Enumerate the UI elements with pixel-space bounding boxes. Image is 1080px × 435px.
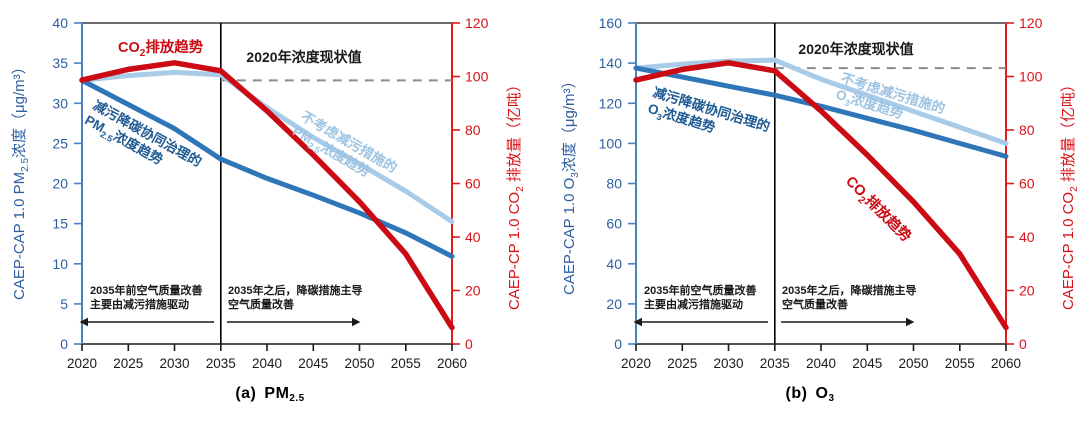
panel-caption-name: PM (264, 385, 289, 402)
y-right-tick-label: 100 (1019, 69, 1043, 85)
left-tick-label-group: 0 20 40 60 80 100 120 140 160 (599, 15, 623, 352)
annotation-dark-blue-label: 减污降碳协同治理的 O3浓度趋势 (645, 84, 772, 154)
y-right-tick-label: 20 (1019, 283, 1035, 299)
x-tick-label-group: 2020 2025 2030 2035 2040 2045 2050 2055 … (621, 356, 1021, 371)
x-tick-label: 2050 (344, 356, 374, 371)
y-left-tick-label: 60 (606, 216, 622, 232)
y-left-tick-label: 30 (52, 95, 68, 111)
y-left-tick-label: 40 (52, 15, 68, 31)
x-tick-label: 2030 (159, 356, 189, 371)
x-axis-ticks (82, 344, 452, 351)
y-left-tick-label: 25 (52, 135, 68, 151)
y-right-tick-label: 120 (465, 15, 489, 31)
annotation-co2-label: CO2排放趋势 (840, 172, 916, 248)
y-right-tick-label: 60 (1019, 176, 1035, 192)
y-left-tick-label: 100 (599, 135, 623, 151)
x-tick-label: 2060 (437, 356, 467, 371)
y-left-axis-title: CAEP-CAP 1.0 PM2.5浓度（μg/m³） (11, 59, 31, 300)
y-left-tick-label: 0 (614, 336, 622, 352)
annotation-co2-label: CO2排放趋势 (118, 38, 204, 59)
panel-caption-index: (a) (235, 385, 256, 402)
panel-caption-name: O (815, 385, 828, 402)
panel-caption-pm25: (a)PM2.5 (0, 385, 540, 404)
y-right-tick-label: 80 (465, 122, 481, 138)
right-axis-ticks (452, 23, 460, 344)
panel-caption-sub: 2.5 (289, 393, 304, 404)
y-left-tick-label: 80 (606, 176, 622, 192)
note-right-line2: 空气质量改善 (782, 297, 848, 311)
plot-svg-pm25: 2020 2025 2030 2035 2040 2045 2050 2055 … (0, 0, 540, 435)
chart-panel-o3: 2020 2025 2030 2035 2040 2045 2050 2055 … (540, 0, 1080, 435)
left-axis-ticks (74, 23, 82, 344)
panel-caption-sub: 3 (828, 393, 834, 404)
x-tick-label: 2040 (252, 356, 282, 371)
y-right-tick-label: 60 (465, 176, 481, 192)
x-tick-label-group: 2020 2025 2030 2035 2040 2045 2050 2055 … (67, 356, 467, 371)
chart-panel-pm25: 2020 2025 2030 2035 2040 2045 2050 2055 … (0, 0, 540, 435)
annotation-baseline-2020-label: 2020年浓度现状值 (798, 41, 913, 57)
y-left-tick-label: 140 (599, 55, 623, 71)
y-right-tick-label: 80 (1019, 122, 1035, 138)
y-right-tick-label: 40 (1019, 229, 1035, 245)
x-tick-label: 2055 (391, 356, 421, 371)
note-left-line1: 2035年前空气质量改善 (644, 283, 756, 297)
right-tick-label-group: 0 20 40 60 80 100 120 (465, 15, 489, 352)
y-right-axis-title: CAEP-CP 1.0 CO2 排放量（亿吨） (1060, 77, 1080, 310)
y-right-tick-label: 20 (465, 283, 481, 299)
x-tick-label: 2060 (991, 356, 1021, 371)
left-tick-label-group: 0 5 10 15 20 25 30 35 40 (52, 15, 68, 352)
y-left-tick-label: 40 (606, 256, 622, 272)
x-tick-label: 2025 (667, 356, 697, 371)
y-left-tick-label: 35 (52, 55, 68, 71)
y-left-tick-label: 20 (606, 296, 622, 312)
right-tick-label-group: 0 20 40 60 80 100 120 (1019, 15, 1043, 352)
y-right-tick-label: 0 (1019, 336, 1027, 352)
plot-svg-o3: 2020 2025 2030 2035 2040 2045 2050 2055 … (540, 0, 1080, 435)
x-tick-label: 2035 (760, 356, 790, 371)
annotation-baseline-2020-label: 2020年浓度现状值 (246, 49, 361, 65)
panel-caption-index: (b) (786, 385, 808, 402)
x-tick-label: 2050 (898, 356, 928, 371)
note-left-line2: 主要由减污措施驱动 (644, 297, 743, 311)
y-left-tick-label: 10 (52, 256, 68, 272)
x-tick-label: 2025 (113, 356, 143, 371)
note-left-line2: 主要由减污措施驱动 (90, 297, 189, 311)
left-axis-ticks (628, 23, 636, 344)
x-tick-label: 2045 (852, 356, 882, 371)
y-left-tick-label: 160 (599, 15, 623, 31)
y-left-tick-label: 120 (599, 95, 623, 111)
note-left-line1: 2035年前空气质量改善 (90, 283, 202, 297)
y-left-axis-title: CAEP-CAP 1.0 O3浓度（μg/m³） (561, 74, 581, 296)
x-tick-label: 2055 (945, 356, 975, 371)
y-left-tick-label: 15 (52, 216, 68, 232)
y-right-tick-label: 40 (465, 229, 481, 245)
x-tick-label: 2040 (806, 356, 836, 371)
x-tick-label: 2020 (67, 356, 97, 371)
x-tick-label: 2035 (206, 356, 236, 371)
note-right-line2: 空气质量改善 (228, 297, 294, 311)
y-right-tick-label: 100 (465, 69, 489, 85)
y-right-tick-label: 120 (1019, 15, 1043, 31)
x-tick-label: 2020 (621, 356, 651, 371)
y-left-tick-label: 0 (60, 336, 68, 352)
x-tick-label: 2045 (298, 356, 328, 371)
x-axis-ticks (636, 344, 1006, 351)
y-right-tick-label: 0 (465, 336, 473, 352)
svg-text:CO2排放趋势: CO2排放趋势 (840, 172, 916, 248)
figure-root: 2020 2025 2030 2035 2040 2045 2050 2055 … (0, 0, 1080, 435)
y-left-tick-label: 5 (60, 296, 68, 312)
right-axis-ticks (1006, 23, 1014, 344)
x-tick-label: 2030 (713, 356, 743, 371)
panel-caption-o3: (b)O3 (540, 385, 1080, 404)
note-right-line1: 2035年之后，降碳措施主导 (782, 283, 916, 297)
y-left-tick-label: 20 (52, 176, 68, 192)
y-right-axis-title: CAEP-CP 1.0 CO2 排放量（亿吨） (506, 77, 526, 310)
note-right-line1: 2035年之后，降碳措施主导 (228, 283, 362, 297)
